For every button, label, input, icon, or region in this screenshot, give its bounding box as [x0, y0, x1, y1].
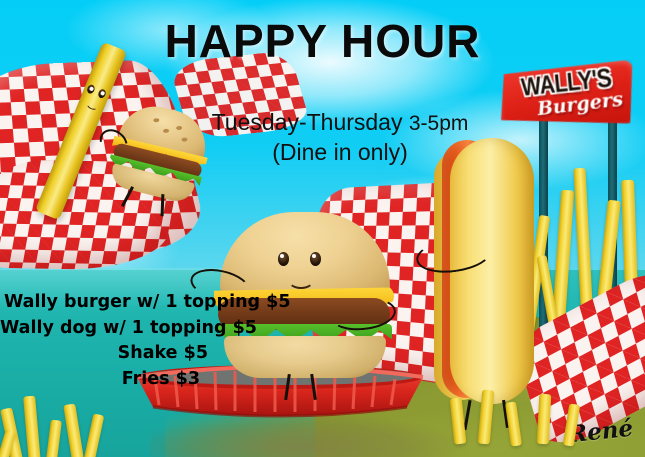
hotdog-front-bun	[450, 138, 534, 404]
menu-item: Wally dog w/ 1 topping $5	[0, 316, 258, 342]
menu-item: Shake $5	[0, 341, 258, 367]
burger-eye-left	[278, 252, 289, 266]
menu-item: Wally burger w/ 1 topping $5	[0, 290, 258, 316]
fry-smile	[85, 99, 99, 112]
fry-eye-right	[97, 88, 107, 99]
menu-item: Fries $3	[0, 367, 258, 393]
burger-smile	[288, 272, 314, 289]
burger-eye-right	[310, 252, 321, 266]
happy-hour-poster: WALLY'S Burgers HAPPY HOUR Tuesday-Thurs…	[0, 0, 645, 457]
fry-eye-left	[86, 84, 96, 95]
schedule-time: 3-5pm	[409, 112, 469, 135]
schedule-days: Tuesday-Thursday	[212, 109, 409, 135]
hotdog-character	[428, 138, 536, 408]
menu-list: Wally burger w/ 1 topping $5 Wally dog w…	[0, 290, 258, 393]
